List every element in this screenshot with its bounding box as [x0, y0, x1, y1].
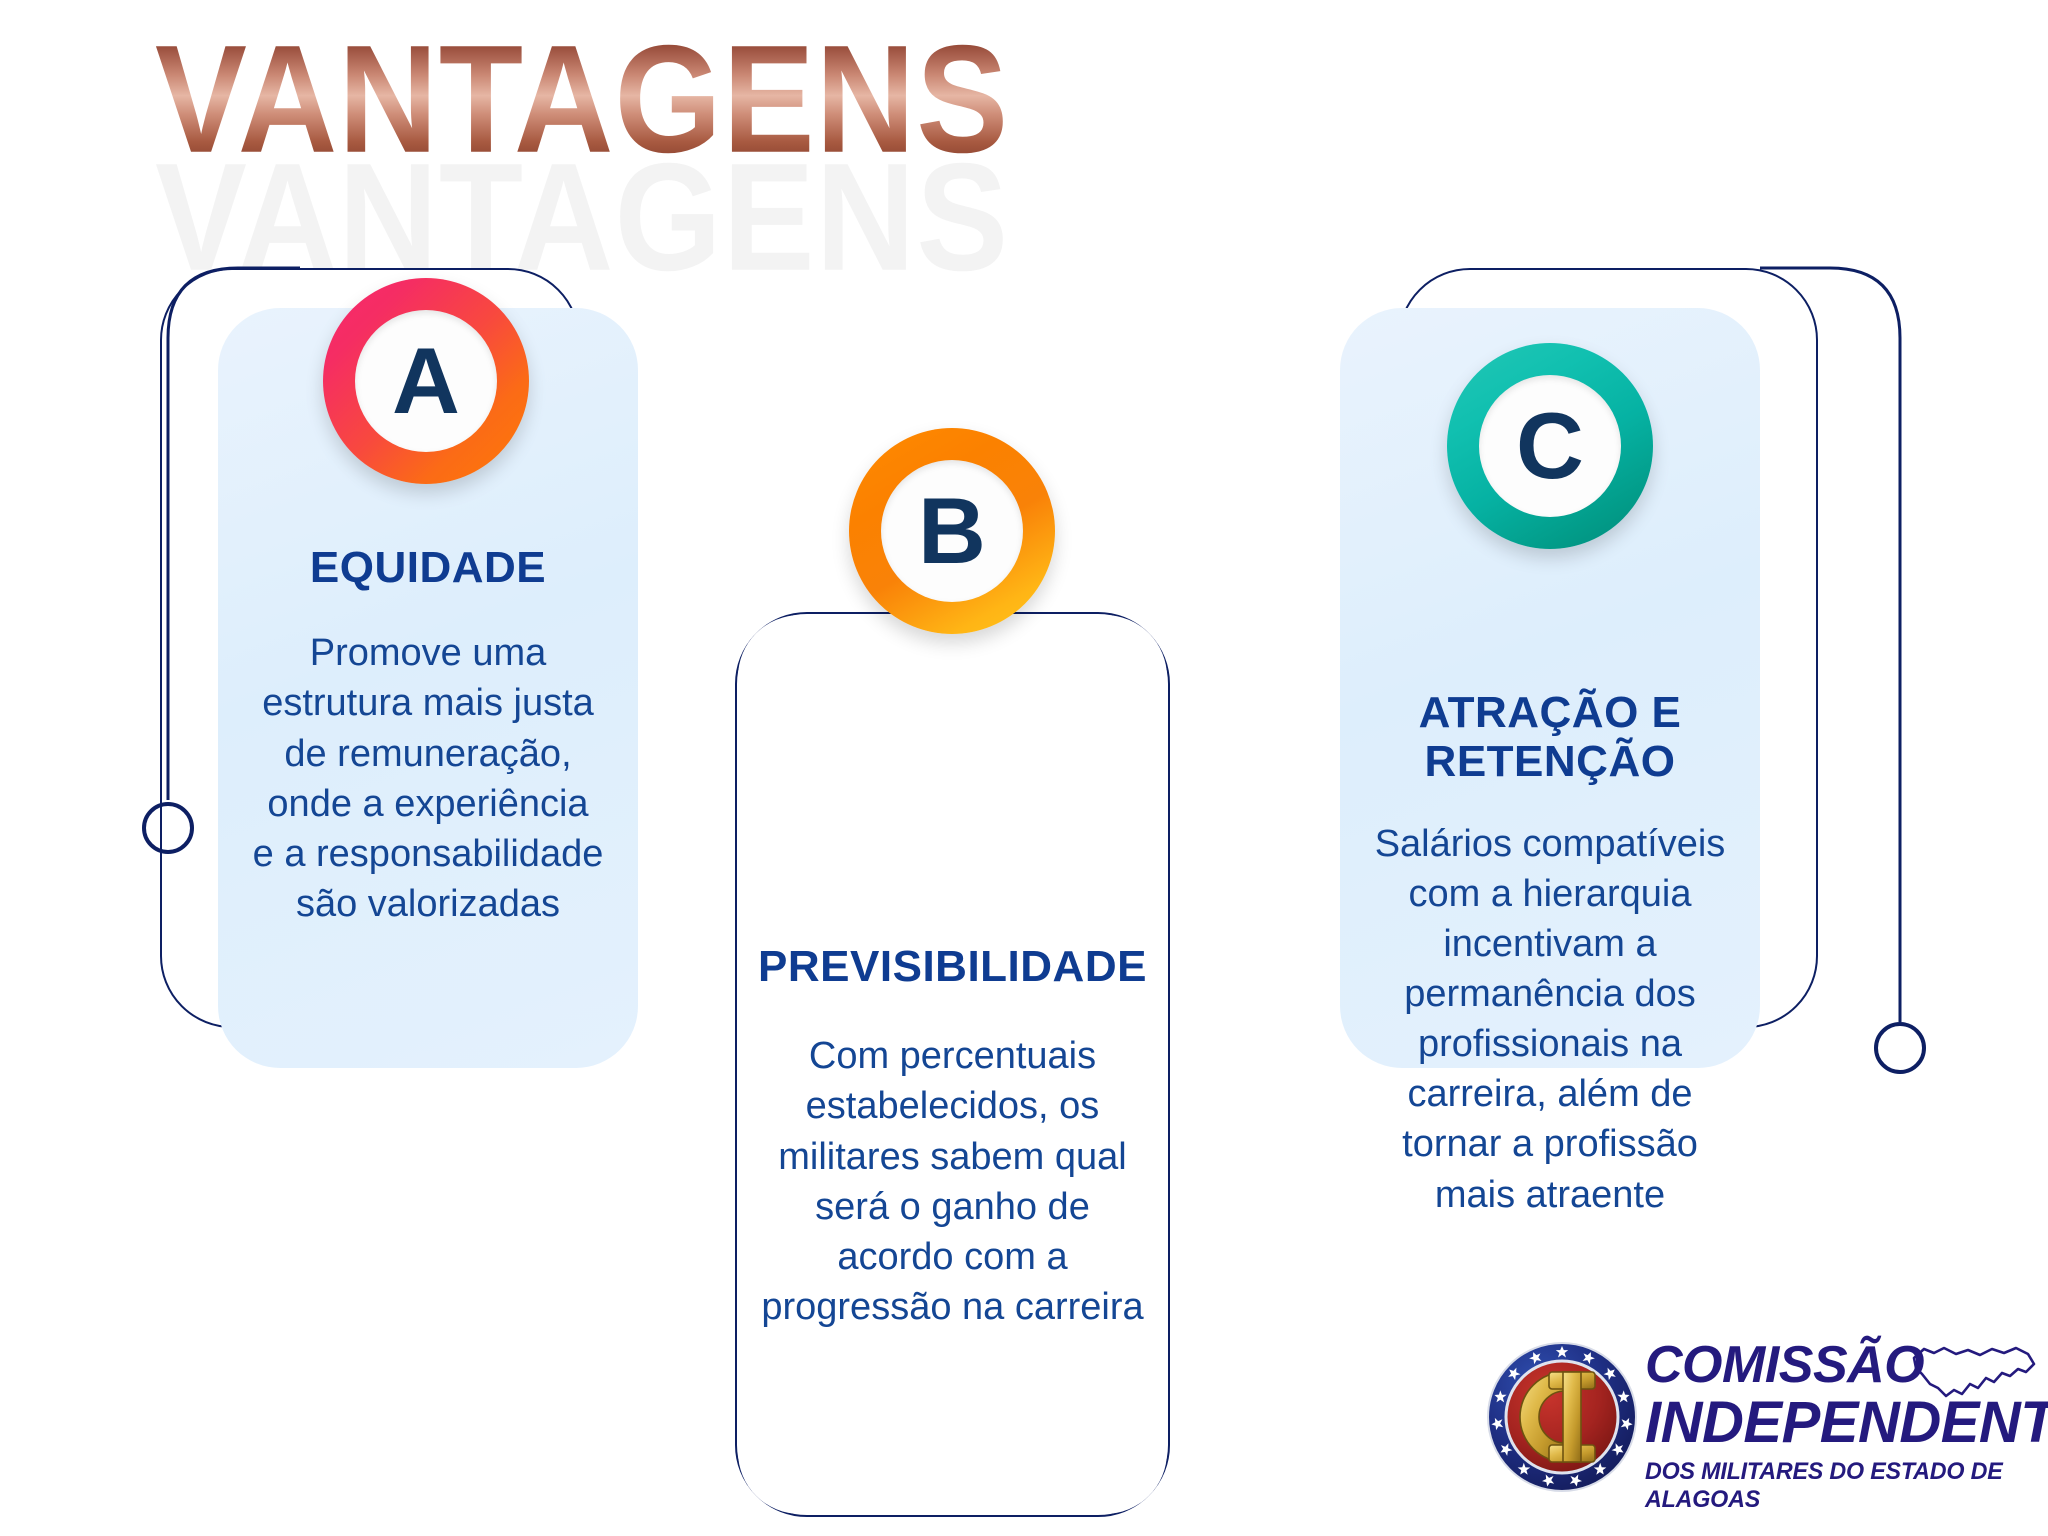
alagoas-map-icon [1910, 1342, 2038, 1408]
card-equidade[interactable]: A EQUIDADE Promove uma estrutura mais ju… [160, 268, 640, 1073]
card-a-content: EQUIDADE Promove uma estrutura mais just… [218, 543, 638, 929]
card-c-content: ATRAÇÃO E RETENÇÃO Salários compatíveis … [1340, 688, 1760, 1220]
badge-c: C [1447, 343, 1653, 549]
card-atracao-retencao[interactable]: C ATRAÇÃO E RETENÇÃO Salários compatívei… [1340, 268, 1820, 1073]
page-title: VANTAGENS [155, 22, 1321, 175]
logo-subtitle: DOS MILITARES DO ESTADO DE ALAGOAS [1645, 1458, 2023, 1514]
infographic-canvas: VANTAGENS VANTAGENS A EQUIDADE Promove u… [0, 0, 2048, 1536]
card-a-heading: EQUIDADE [218, 543, 638, 592]
badge-a: A [323, 278, 529, 484]
card-b-heading: PREVISIBILIDADE [735, 942, 1170, 991]
badge-a-letter: A [392, 334, 460, 428]
card-a-body: Promove uma estrutura mais justa de remu… [218, 628, 638, 929]
badge-c-inner: C [1479, 375, 1621, 517]
card-c-body: Salários compatíveis com a hierarquia in… [1340, 819, 1760, 1220]
card-previsibilidade[interactable]: B PREVISIBILIDADE Com percentuais estabe… [735, 612, 1175, 1522]
seal-icon [1487, 1342, 1637, 1492]
connector-endpoint-right [1876, 1024, 1924, 1072]
badge-b-letter: B [918, 484, 986, 578]
card-c-heading: ATRAÇÃO E RETENÇÃO [1340, 688, 1760, 787]
organization-logo: COMISSÃO INDEPENDENTE DOS MILITARES DO E… [1487, 1340, 2032, 1515]
badge-c-letter: C [1516, 399, 1584, 493]
badge-b: B [849, 428, 1055, 634]
card-b-content: PREVISIBILIDADE Com percentuais estabele… [735, 942, 1170, 1332]
badge-b-inner: B [881, 460, 1023, 602]
card-b-body: Com percentuais estabelecidos, os milita… [735, 1031, 1170, 1332]
page-title-group: VANTAGENS VANTAGENS [155, 22, 1255, 282]
badge-a-inner: A [355, 310, 497, 452]
